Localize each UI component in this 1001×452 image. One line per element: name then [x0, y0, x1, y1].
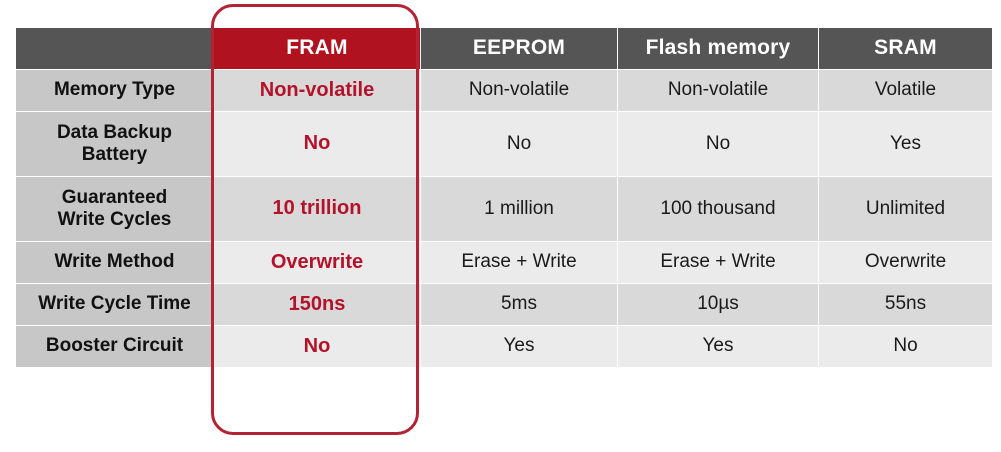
row-label-write-cycle-time: Write Cycle Time	[16, 284, 213, 325]
cell-sram-booster-circuit: No	[819, 326, 992, 367]
header-cell-sram: SRAM	[819, 28, 992, 69]
cell-eeprom-booster-circuit: Yes	[421, 326, 617, 367]
header-cell-blank	[16, 28, 213, 69]
cell-eeprom-guaranteed-write-cycles: 1 million	[421, 177, 617, 241]
cell-fram-booster-circuit: No	[214, 326, 420, 367]
cell-sram-memory-type: Volatile	[819, 70, 992, 111]
table-row: Guaranteed Write Cycles 10 trillion 1 mi…	[16, 177, 992, 241]
cell-flash-write-method: Erase + Write	[618, 242, 818, 283]
row-label-line-1: Data Backup	[16, 122, 213, 144]
cell-fram-data-backup-battery: No	[214, 112, 420, 176]
table-row: Data Backup Battery No No No Yes	[16, 112, 992, 176]
table-body: Memory Type Non-volatile Non-volatile No…	[16, 70, 992, 367]
row-label-write-method: Write Method	[16, 242, 213, 283]
cell-eeprom-write-cycle-time: 5ms	[421, 284, 617, 325]
row-label-memory-type: Memory Type	[16, 70, 213, 111]
cell-flash-booster-circuit: Yes	[618, 326, 818, 367]
cell-fram-write-method: Overwrite	[214, 242, 420, 283]
cell-fram-guaranteed-write-cycles: 10 trillion	[214, 177, 420, 241]
cell-fram-write-cycle-time: 150ns	[214, 284, 420, 325]
cell-flash-data-backup-battery: No	[618, 112, 818, 176]
header-cell-flash-memory: Flash memory	[618, 28, 818, 69]
cell-sram-guaranteed-write-cycles: Unlimited	[819, 177, 992, 241]
row-label-line-2: Battery	[16, 144, 213, 166]
row-label-line-1: Guaranteed	[16, 187, 213, 209]
cell-sram-write-method: Overwrite	[819, 242, 992, 283]
table-row: Memory Type Non-volatile Non-volatile No…	[16, 70, 992, 111]
cell-flash-memory-type: Non-volatile	[618, 70, 818, 111]
row-label-data-backup-battery: Data Backup Battery	[16, 112, 213, 176]
table-header: FRAM EEPROM Flash memory SRAM	[16, 28, 992, 69]
table-row: Booster Circuit No Yes Yes No	[16, 326, 992, 367]
cell-eeprom-memory-type: Non-volatile	[421, 70, 617, 111]
table-header-row: FRAM EEPROM Flash memory SRAM	[16, 28, 992, 69]
cell-flash-guaranteed-write-cycles: 100 thousand	[618, 177, 818, 241]
cell-sram-data-backup-battery: Yes	[819, 112, 992, 176]
table-row: Write Method Overwrite Erase + Write Era…	[16, 242, 992, 283]
cell-fram-memory-type: Non-volatile	[214, 70, 420, 111]
cell-sram-write-cycle-time: 55ns	[819, 284, 992, 325]
header-cell-eeprom: EEPROM	[421, 28, 617, 69]
table-row: Write Cycle Time 150ns 5ms 10µs 55ns	[16, 284, 992, 325]
memory-comparison-table: FRAM EEPROM Flash memory SRAM Memory Typ…	[15, 27, 993, 368]
header-cell-fram: FRAM	[214, 28, 420, 69]
row-label-line-2: Write Cycles	[16, 209, 213, 231]
row-label-guaranteed-write-cycles: Guaranteed Write Cycles	[16, 177, 213, 241]
row-label-booster-circuit: Booster Circuit	[16, 326, 213, 367]
comparison-table-figure: FRAM EEPROM Flash memory SRAM Memory Typ…	[0, 0, 1001, 452]
cell-eeprom-write-method: Erase + Write	[421, 242, 617, 283]
cell-eeprom-data-backup-battery: No	[421, 112, 617, 176]
cell-flash-write-cycle-time: 10µs	[618, 284, 818, 325]
